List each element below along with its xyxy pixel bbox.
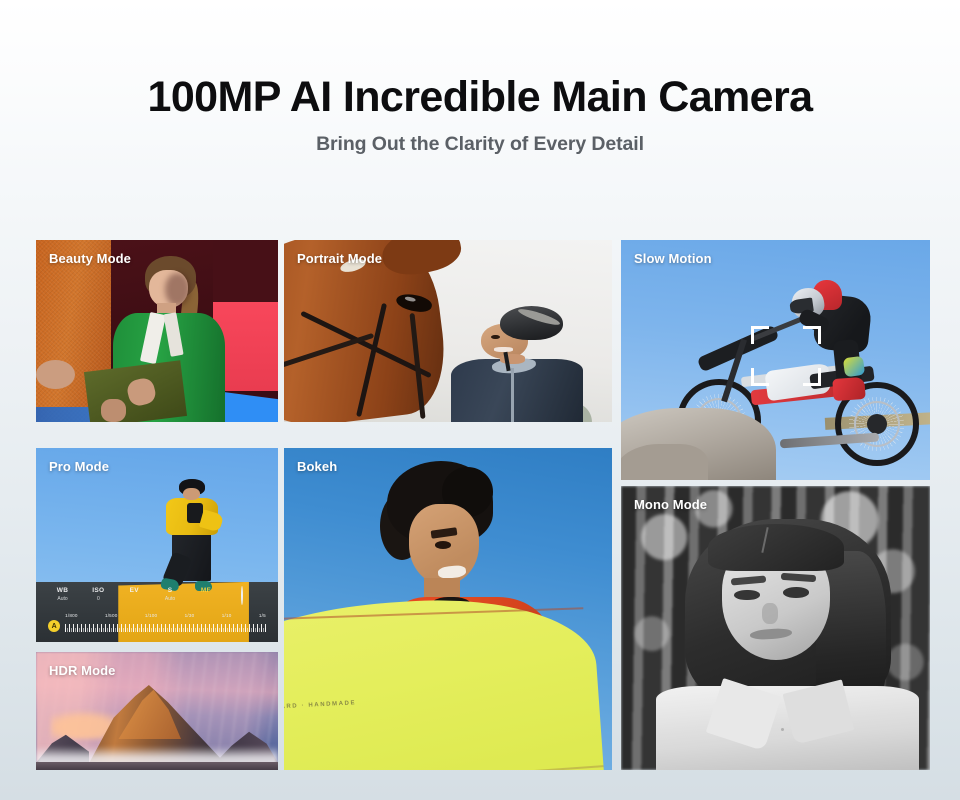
tile-beauty-mode[interactable]: Beauty Mode: [36, 240, 278, 422]
beauty-mode-photo: [36, 240, 278, 422]
tile-pro-mode[interactable]: WB Auto ISO 0 EV S Auto MF: [36, 448, 278, 642]
pro-mode-shutter-scale-row[interactable]: A 1/800 1/500 1/100 1/30 1/10 1/5: [48, 619, 266, 633]
shutter-speed-ruler: [65, 624, 266, 632]
tick-label: 1/5: [259, 613, 266, 618]
pro-control-shutter-key: S: [158, 587, 182, 594]
slow-motion-photo: [621, 240, 930, 480]
pro-control-iso-key: ISO: [86, 587, 110, 594]
tile-label-slow-motion: Slow Motion: [634, 251, 712, 266]
tile-label-mono-mode: Mono Mode: [634, 497, 707, 512]
portrait-mode-photo: [284, 240, 612, 422]
pro-control-wb-key: WB: [51, 587, 75, 594]
tick-label: 1/800: [65, 613, 78, 618]
pro-mode-control-row[interactable]: WB Auto ISO 0 EV S Auto MF: [51, 587, 254, 605]
tile-bokeh[interactable]: SURFBOARD · HANDMADE Bokeh: [284, 448, 612, 770]
focus-bracket-icon: [751, 326, 821, 386]
hero-section: 100MP AI Incredible Main Camera Bring Ou…: [0, 0, 960, 156]
camera-mode-gallery: Beauty Mode: [36, 240, 930, 770]
tile-label-pro-mode: Pro Mode: [49, 459, 109, 474]
mono-mode-photo: [621, 486, 930, 770]
tile-label-beauty-mode: Beauty Mode: [49, 251, 131, 266]
tile-mono-mode[interactable]: Mono Mode: [621, 486, 930, 770]
circle-icon: [241, 586, 243, 605]
surfboard-text: SURFBOARD · HANDMADE: [284, 699, 357, 711]
pro-control-manual-focus[interactable]: MF: [194, 587, 218, 596]
tile-label-portrait-mode: Portrait Mode: [297, 251, 382, 266]
shutter-speed-slider[interactable]: 1/800 1/500 1/100 1/30 1/10 1/5: [65, 619, 266, 633]
tick-label: 1/30: [185, 613, 195, 618]
pro-control-shutter-value: Auto: [158, 596, 182, 602]
pro-control-ev-key: EV: [122, 587, 146, 594]
pro-control-ev[interactable]: EV: [122, 587, 146, 596]
page-title: 100MP AI Incredible Main Camera: [0, 74, 960, 120]
pro-control-iso[interactable]: ISO 0: [86, 587, 110, 602]
auto-badge-icon[interactable]: A: [48, 620, 60, 632]
pro-mode-control-overlay[interactable]: WB Auto ISO 0 EV S Auto MF: [36, 580, 278, 642]
tick-label: 1/500: [105, 613, 118, 618]
tile-slow-motion[interactable]: Slow Motion: [621, 240, 930, 480]
tick-label: 1/100: [145, 613, 158, 618]
pro-control-mf-key: MF: [194, 587, 218, 594]
pro-control-wb[interactable]: WB Auto: [51, 587, 75, 602]
tile-label-hdr-mode: HDR Mode: [49, 663, 116, 678]
page-subtitle: Bring Out the Clarity of Every Detail: [0, 133, 960, 156]
pro-control-more[interactable]: [230, 587, 254, 605]
pro-control-wb-value: Auto: [51, 596, 75, 602]
shutter-speed-tick-labels: 1/800 1/500 1/100 1/30 1/10 1/5: [65, 613, 266, 618]
pro-control-shutter[interactable]: S Auto: [158, 587, 182, 602]
bokeh-photo: SURFBOARD · HANDMADE: [284, 448, 612, 770]
pro-control-iso-value: 0: [86, 596, 110, 602]
tile-hdr-mode[interactable]: HDR Mode: [36, 652, 278, 770]
tick-label: 1/10: [222, 613, 232, 618]
tile-portrait-mode[interactable]: Portrait Mode: [284, 240, 612, 422]
tile-label-bokeh: Bokeh: [297, 459, 337, 474]
